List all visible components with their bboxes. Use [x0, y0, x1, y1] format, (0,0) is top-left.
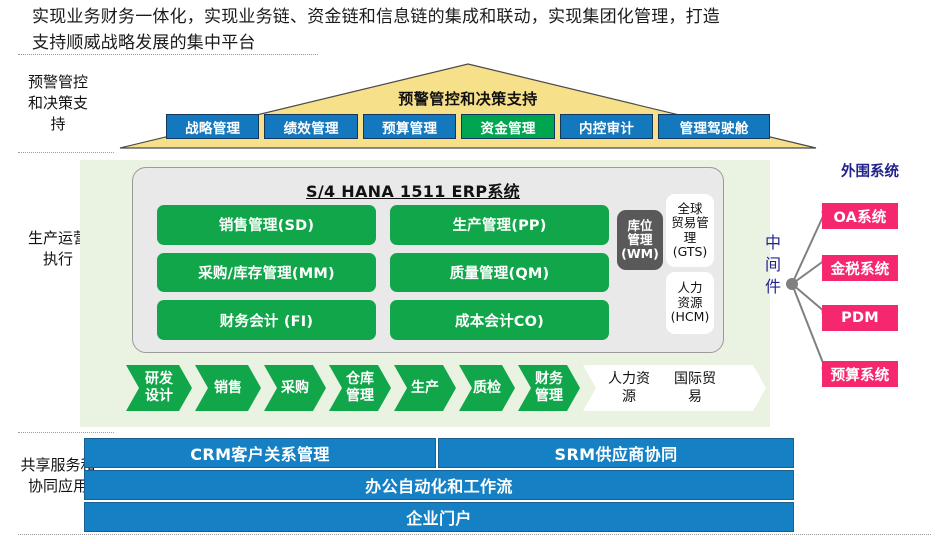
page-title: 实现业务财务一体化，实现业务链、资金链和信息链的集成和联动，实现集团化管理，打造…: [32, 4, 922, 56]
process-step-label-line: 管理: [346, 388, 374, 405]
erp-card: S/4 HANA 1511 ERP系统 销售管理(SD) 生产管理(PP) 采购…: [132, 167, 724, 353]
process-step-label-line: 设计: [145, 388, 173, 405]
erp-module-mm[interactable]: 采购/库存管理(MM): [157, 253, 376, 293]
shared-bar-oa[interactable]: 办公自动化和工作流: [84, 470, 794, 500]
erp-module-co[interactable]: 成本会计CO): [390, 300, 609, 340]
process-step-label: 质检: [470, 365, 504, 411]
page-title-line-2: 支持顺威战略发展的集中平台: [32, 30, 922, 56]
divider-top: [18, 54, 318, 55]
slide-canvas: 实现业务财务一体化，实现业务链、资金链和信息链的集成和联动，实现集团化管理，打造…: [0, 0, 949, 544]
shared-bar-srm[interactable]: SRM供应商协同: [438, 438, 794, 468]
process-step-label-line: 源: [622, 388, 636, 406]
process-step-label-line: 仓库: [346, 371, 374, 388]
process-step-label-line: 生产: [411, 380, 439, 397]
pyramid-button-budget[interactable]: 预算管理: [363, 114, 456, 139]
process-step-label-line: 人力资: [608, 370, 650, 388]
divider-bottom: [18, 534, 931, 535]
erp-module-gts[interactable]: 全球 贸易管 理 (GTS): [666, 194, 714, 267]
erp-module-qm[interactable]: 质量管理(QM): [390, 253, 609, 293]
process-step-label: 国际贸易: [664, 365, 726, 411]
page-title-line-1: 实现业务财务一体化，实现业务链、资金链和信息链的集成和联动，实现集团化管理，打造: [32, 4, 922, 30]
process-step-label-line: 研发: [145, 371, 173, 388]
pyramid-button-performance[interactable]: 绩效管理: [264, 114, 357, 139]
divider-mid-1: [18, 152, 114, 153]
pyramid-button-audit[interactable]: 内控审计: [560, 114, 653, 139]
process-step-label-line: 质检: [473, 380, 501, 397]
pyramid-title: 预警管控和决策支持: [118, 88, 818, 109]
erp-module-sd[interactable]: 销售管理(SD): [157, 205, 376, 245]
process-step-label: 采购: [275, 365, 315, 411]
process-step-label-line: 管理: [535, 388, 563, 405]
process-step-label: 仓库管理: [340, 365, 380, 411]
process-step-label-line: 销售: [214, 380, 242, 397]
erp-module-wm-line-2: 管理: [627, 233, 652, 247]
process-step-label-line: 国际贸: [674, 370, 716, 388]
erp-module-pp[interactable]: 生产管理(PP): [390, 205, 609, 245]
erp-module-wm-line-1: 库位: [627, 219, 652, 233]
erp-module-fi[interactable]: 财务会计 (FI): [157, 300, 376, 340]
shared-bar-crm[interactable]: CRM客户关系管理: [84, 438, 436, 468]
erp-title: S/4 HANA 1511 ERP系统: [133, 178, 693, 202]
shared-bar-portal[interactable]: 企业门户: [84, 502, 794, 532]
erp-module-gts-line-4: (GTS): [673, 245, 708, 260]
process-step-label: 研发设计: [137, 365, 181, 411]
erp-module-gts-line-1: 全球: [677, 202, 702, 217]
external-systems-title: 外围系统: [800, 160, 940, 181]
divider-mid-2: [18, 432, 114, 433]
process-flow: 研发设计销售采购仓库管理生产质检财务管理人力资源国际贸易: [126, 361, 766, 417]
process-step-label: 生产: [405, 365, 445, 411]
middleware-label: 中间件: [760, 232, 786, 298]
erp-module-gts-line-3: 理: [684, 231, 697, 246]
erp-module-wm[interactable]: 库位 管理 (WM): [617, 210, 663, 270]
erp-module-hcm-line-3: (HCM): [671, 310, 710, 325]
erp-module-gts-line-2: 贸易管: [671, 216, 709, 231]
middleware-label-text: 中间件: [765, 233, 781, 296]
erp-module-grid: 销售管理(SD) 生产管理(PP) 采购/库存管理(MM) 质量管理(QM) 财…: [157, 205, 609, 340]
process-step-label-line: 易: [688, 388, 702, 406]
process-step-label: 人力资源: [598, 365, 660, 411]
pyramid-button-row: 战略管理 绩效管理 预算管理 资金管理 内控审计 管理驾驶舱: [166, 114, 770, 139]
process-step-label: 财务管理: [529, 365, 569, 411]
pyramid-layer: 预警管控和决策支持 战略管理 绩效管理 预算管理 资金管理 内控审计 管理驾驶舱: [118, 62, 818, 150]
process-step-label-line: 财务: [535, 371, 563, 388]
erp-module-wm-line-3: (WM): [621, 247, 659, 261]
band-label-warning: 预警管控和决策支持: [22, 72, 94, 135]
erp-module-hcm-line-1: 人力: [677, 281, 702, 296]
pyramid-button-cockpit[interactable]: 管理驾驶舱: [658, 114, 770, 139]
erp-module-hcm-line-2: 资源: [677, 296, 702, 311]
erp-module-hcm[interactable]: 人力 资源 (HCM): [666, 272, 714, 334]
external-system-budget[interactable]: 预算系统: [822, 361, 898, 387]
external-system-pdm[interactable]: PDM: [822, 305, 898, 331]
process-step-label-line: 采购: [281, 380, 309, 397]
process-step-label: 销售: [206, 365, 250, 411]
pyramid-button-strategy[interactable]: 战略管理: [166, 114, 259, 139]
external-system-tax[interactable]: 金税系统: [822, 255, 898, 281]
external-system-oa[interactable]: OA系统: [822, 203, 898, 229]
pyramid-button-funds[interactable]: 资金管理: [461, 114, 554, 139]
